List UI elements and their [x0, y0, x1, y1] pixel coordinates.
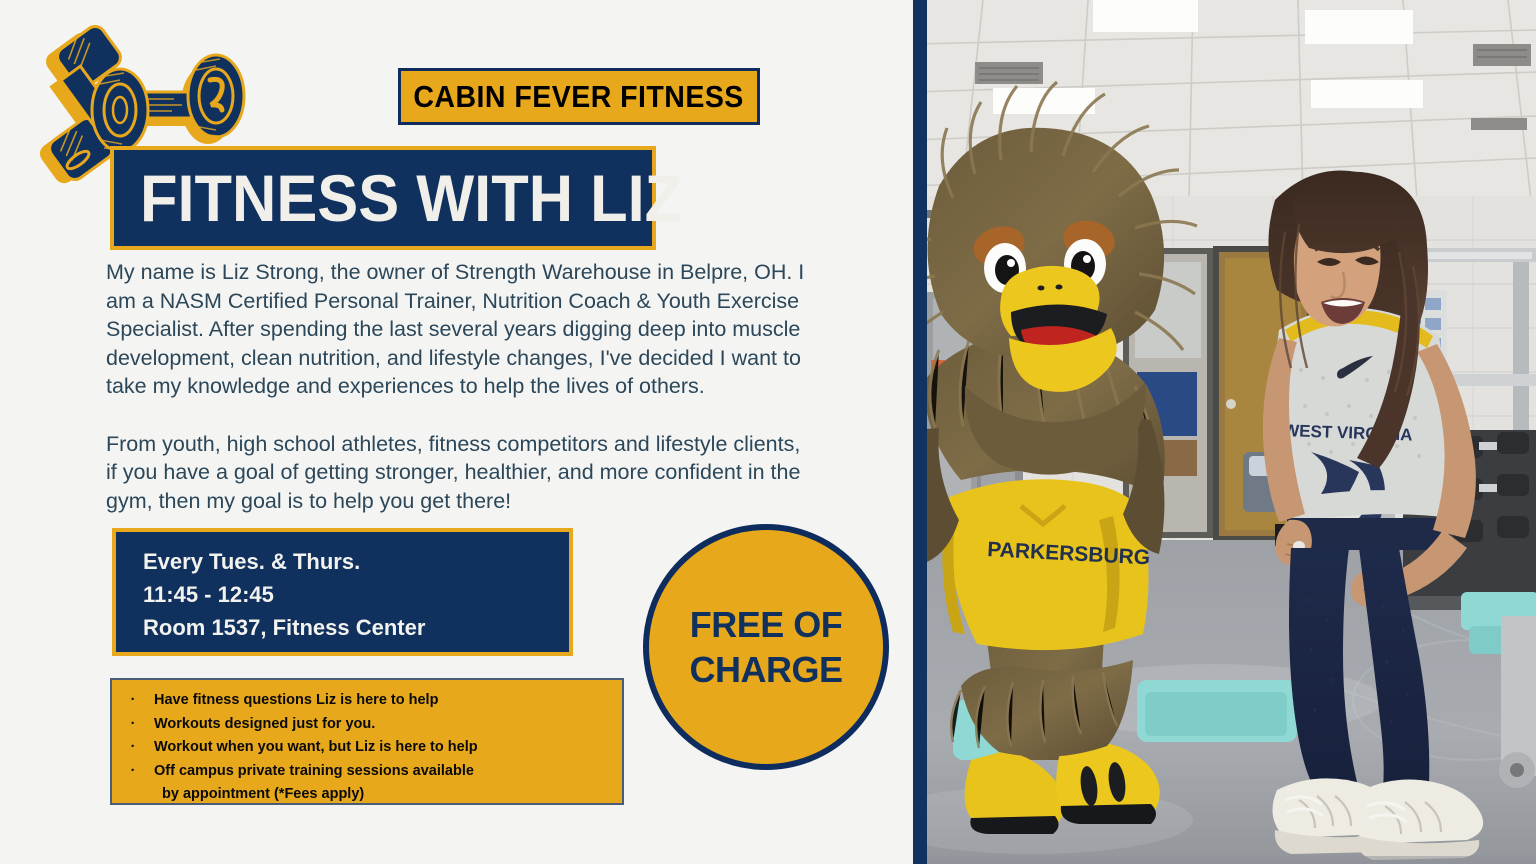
- photo-left-border: [913, 0, 927, 864]
- bullet-marker-icon: ·: [112, 713, 154, 737]
- gym-photo-image: Body Solid: [913, 0, 1536, 864]
- page-title: FITNESS WITH LIZ: [140, 165, 682, 231]
- list-item: · Workouts designed just for you.: [112, 713, 622, 737]
- intro-paragraph-2: From youth, high school athletes, fitnes…: [106, 430, 806, 516]
- free-of-charge-badge: FREE OF CHARGE: [643, 524, 889, 770]
- kicker-banner: CABIN FEVER FITNESS: [398, 68, 760, 125]
- left-content-panel: CABIN FEVER FITNESS FITNESS WITH LIZ My …: [0, 0, 913, 864]
- list-item: · Workout when you want, but Liz is here…: [112, 736, 622, 760]
- list-item: · Off campus private training sessions a…: [112, 760, 622, 784]
- schedule-panel: Every Tues. & Thurs. 11:45 - 12:45 Room …: [112, 528, 573, 656]
- schedule-time: 11:45 - 12:45: [143, 578, 569, 611]
- list-item: · Have fitness questions Liz is here to …: [112, 689, 622, 713]
- bullet-marker-icon: ·: [112, 689, 154, 713]
- list-item-label: Have fitness questions Liz is here to he…: [154, 689, 622, 713]
- badge-line-2: CHARGE: [689, 647, 842, 692]
- intro-paragraph-1: My name is Liz Strong, the owner of Stre…: [106, 258, 806, 401]
- bullet-marker-icon: ·: [112, 736, 154, 760]
- benefits-panel: · Have fitness questions Liz is here to …: [110, 678, 624, 805]
- bullet-marker-icon: ·: [112, 760, 154, 784]
- list-item-label: Workout when you want, but Liz is here t…: [154, 736, 622, 760]
- badge-line-1: FREE OF: [690, 602, 843, 647]
- schedule-location: Room 1537, Fitness Center: [143, 611, 569, 644]
- schedule-days: Every Tues. & Thurs.: [143, 545, 569, 578]
- gym-photo: Body Solid: [913, 0, 1536, 864]
- list-item-label: Off campus private training sessions ava…: [154, 760, 622, 784]
- title-banner: FITNESS WITH LIZ: [110, 146, 656, 250]
- intro-copy: My name is Liz Strong, the owner of Stre…: [106, 258, 806, 515]
- flyer-canvas: CABIN FEVER FITNESS FITNESS WITH LIZ My …: [0, 0, 1536, 864]
- kicker-label: CABIN FEVER FITNESS: [414, 81, 744, 112]
- list-item-label: Workouts designed just for you.: [154, 713, 622, 737]
- list-item-continuation-label: by appointment (*Fees apply): [112, 783, 364, 807]
- list-item-continuation: by appointment (*Fees apply): [112, 783, 622, 807]
